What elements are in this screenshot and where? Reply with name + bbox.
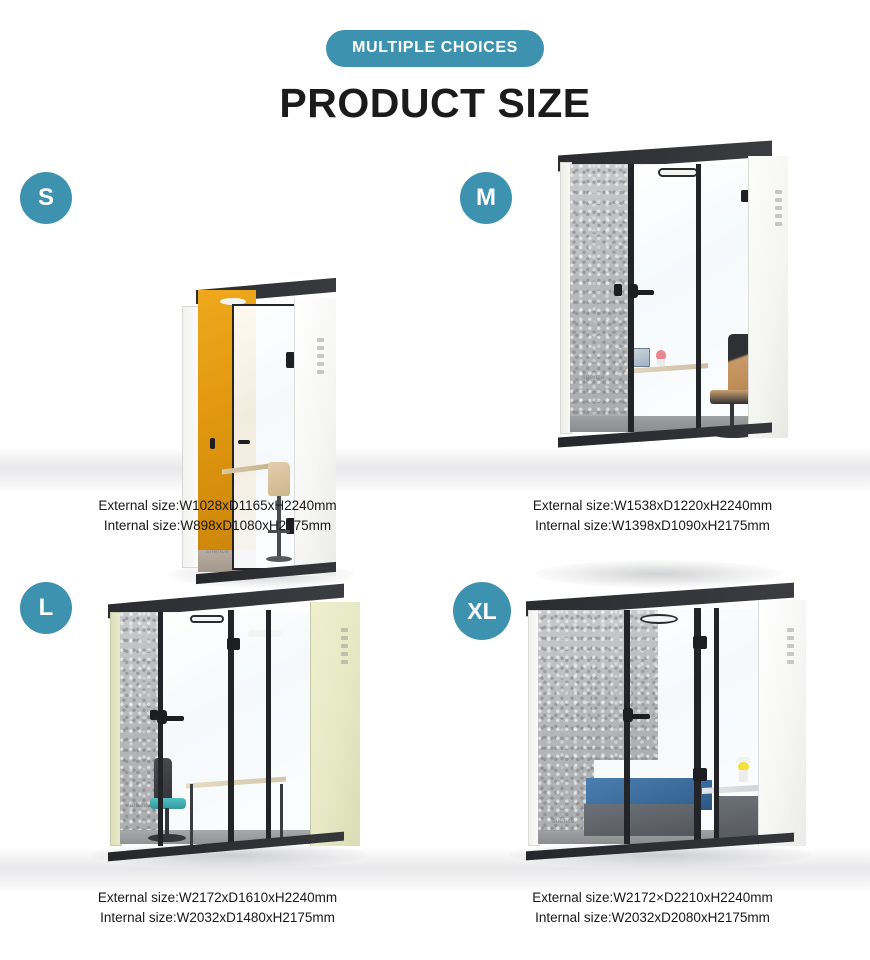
door-handle-s[interactable]: [238, 440, 250, 444]
vent-slots-m: [775, 190, 782, 226]
booth-image-xl: silence: [518, 588, 808, 870]
internal-size-s: Internal size:W898xD1080xH2175mm: [0, 516, 435, 536]
office-chair-back-l: [154, 758, 172, 802]
office-chair-base-l: [148, 834, 186, 842]
brand-logo-l: silence: [130, 802, 153, 809]
booth-felt-wall-l: [120, 612, 162, 844]
door-lock-m[interactable]: [628, 284, 638, 298]
booth-felt-wall-m: [570, 164, 632, 432]
desk-leg-right-l: [280, 784, 283, 842]
external-size-l: External size:W2172xD1610xH2240mm: [0, 888, 435, 908]
ceiling-light-xl: [640, 614, 678, 624]
booth-right-panel-l: [310, 602, 360, 846]
size-badge-m: M: [460, 172, 512, 224]
booth-interior-xl: silence: [538, 610, 766, 844]
bench-backrest-xl: [586, 778, 698, 806]
bench-seat-xl: [584, 804, 700, 836]
door-mullion-right-xl: [714, 608, 719, 844]
brand-logo-m: silence: [582, 374, 605, 381]
multiple-choices-badge: MULTIPLE CHOICES: [326, 30, 544, 67]
size-badge-l: L: [20, 582, 72, 634]
plant-pot-m: [657, 359, 665, 366]
booth-right-panel-m: [748, 156, 788, 438]
booth-interior-m: silence: [570, 164, 756, 432]
door-mullion-left-l: [158, 612, 163, 846]
door-mullion-right-l: [266, 610, 271, 846]
desk-leg-left-l: [190, 784, 193, 846]
ceiling-light-l: [190, 615, 224, 623]
booth-right-panel-xl: [758, 600, 806, 846]
internal-size-l: Internal size:W2032xD1480xH2175mm: [0, 908, 435, 928]
booth-image-s: silence: [178, 278, 338, 590]
door-mullion-right-m: [696, 164, 701, 432]
header: MULTIPLE CHOICES PRODUCT SIZE: [0, 0, 870, 130]
door-sensor-top-xl: [693, 636, 707, 649]
figurine-body-xl: [739, 770, 748, 782]
page-title: PRODUCT SIZE: [0, 80, 870, 127]
booth-stool-s: [268, 462, 290, 496]
specs-m: External size:W1538xD1220xH2240mm Intern…: [435, 496, 870, 537]
vent-slots-l: [341, 628, 348, 664]
booth-image-l: silence: [100, 590, 362, 870]
specs-s: External size:W1028xD1165xH2240mm Intern…: [0, 496, 435, 537]
wall-switch-s: [210, 438, 215, 449]
brand-logo-xl: silence: [552, 818, 575, 825]
external-size-m: External size:W1538xD1220xH2240mm: [435, 496, 870, 516]
size-badge-xl: XL: [453, 582, 511, 640]
ceiling-light2-l: [248, 630, 282, 637]
specs-l: External size:W2172xD1610xH2240mm Intern…: [0, 888, 435, 929]
door-sensor-l: [227, 638, 240, 650]
product-size-infographic: MULTIPLE CHOICES PRODUCT SIZE S: [0, 0, 870, 960]
wall-switch-m: [614, 284, 622, 296]
booth-image-m: silence: [548, 142, 790, 460]
product-card-m[interactable]: M silence: [435, 130, 870, 550]
door-sensor-bottom-xl: [693, 768, 707, 781]
external-size-xl: External size:W2172×D2210xH2240mm: [435, 888, 870, 908]
vent-slots-s: [317, 338, 324, 374]
specs-xl: External size:W2172×D2210xH2240mm Intern…: [435, 888, 870, 929]
door-mullion-left-m: [628, 164, 634, 432]
product-card-s[interactable]: S silence: [0, 130, 435, 550]
size-badge-s: S: [20, 172, 72, 224]
door-lock-l[interactable]: [157, 710, 167, 724]
vent-slots-xl: [787, 628, 794, 664]
booth-interior-l: silence: [120, 612, 318, 844]
internal-size-m: Internal size:W1398xD1090xH2175mm: [435, 516, 870, 536]
product-card-xl[interactable]: XL silence: [435, 550, 870, 960]
door-mullion-left-xl: [624, 610, 630, 844]
external-size-s: External size:W1028xD1165xH2240mm: [0, 496, 435, 516]
internal-size-xl: Internal size:W2032xD2080xH2175mm: [435, 908, 870, 928]
ceiling-light-m: [658, 168, 698, 177]
product-card-l[interactable]: L silence: [0, 550, 435, 960]
door-lock-xl[interactable]: [623, 708, 633, 722]
